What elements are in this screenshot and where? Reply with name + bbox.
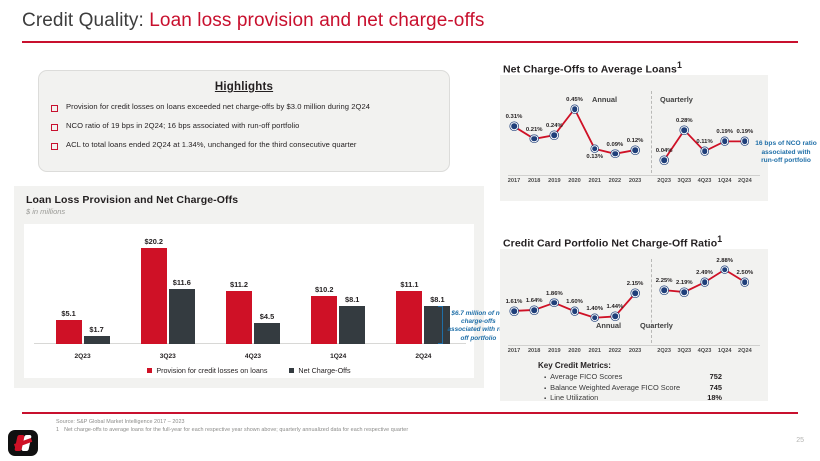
data-label-2020: 0.45% — [558, 97, 592, 103]
legend-swatch-icon — [289, 368, 294, 373]
bar-value-label: $10.2 — [298, 285, 350, 294]
data-label-1Q24: 2.88% — [708, 258, 742, 264]
footer-divider — [22, 412, 798, 414]
data-label-2019: 0.24% — [537, 123, 571, 129]
page-title-accent: Loan loss provision and net charge-offs — [149, 10, 484, 31]
data-label-3Q23: 0.28% — [667, 118, 701, 124]
bar-value-label: $11.6 — [156, 278, 208, 287]
metric-value: 745 — [710, 383, 738, 392]
highlights-heading: Highlights — [39, 81, 449, 93]
legend-label: Provision for credit losses on loans — [156, 366, 267, 375]
bar-value-label: $5.1 — [43, 309, 95, 318]
annual-quarterly-divider — [651, 91, 652, 173]
metric-label: Average FICO Scores — [550, 372, 622, 381]
nco-chart-title: Net Charge-Offs to Average Loans1 — [503, 60, 682, 76]
page-number: 25 — [796, 437, 804, 444]
x-tick-2Q24: 2Q24 — [733, 348, 757, 354]
source-notes: Source: S&P Global Market Intelligence 2… — [56, 418, 408, 434]
bar-3Q23-provision — [141, 248, 167, 344]
bar-category-label: 1Q24 — [298, 353, 378, 360]
legend-item-nco: Net Charge-Offs — [289, 366, 350, 375]
data-point-4Q23 — [701, 148, 709, 156]
metric-label: Line Utilization — [550, 393, 598, 402]
bar-chart-subtitle: $ in millions — [26, 207, 238, 216]
list-item: Provision for credit losses on loans exc… — [51, 102, 449, 112]
data-point-3Q23 — [681, 288, 689, 296]
x-axis-rule — [508, 345, 760, 346]
highlight-text: Provision for credit losses on loans exc… — [66, 102, 370, 111]
run-off-brace — [438, 306, 443, 344]
data-point-2023 — [631, 290, 639, 298]
bar-value-label: $11.1 — [383, 280, 435, 289]
ccp-chart-panel: 1.61%1.64%1.86%1.60%1.40%1.44%2.15%2.25%… — [500, 249, 768, 401]
data-label-2023: 0.12% — [618, 138, 652, 144]
data-point-2018 — [530, 135, 538, 143]
loan-loss-provision-panel: Loan Loss Provision and Net Charge-Offs … — [14, 186, 484, 388]
bullet-icon: ▪ — [544, 396, 546, 402]
footnote-marker: 1 — [56, 426, 59, 434]
data-label-2Q24: 2.50% — [728, 270, 762, 276]
bar-1Q24-nco — [339, 306, 365, 344]
data-point-2022 — [611, 313, 619, 321]
bar-value-label: $4.5 — [241, 312, 293, 321]
data-label-2017: 0.31% — [497, 114, 531, 120]
data-point-2017 — [510, 307, 518, 315]
bar-3Q23-nco — [169, 289, 195, 344]
page-title-static: Credit Quality: — [22, 10, 149, 31]
bar-value-label: $11.2 — [213, 280, 265, 289]
metric-row: ▪ Balance Weighted Average FICO Score 74… — [538, 383, 738, 392]
ccp-chart-title: Credit Card Portfolio Net Charge-Off Rat… — [503, 234, 722, 250]
nco-chart-title-text: Net Charge-Offs to Average Loans — [503, 64, 677, 76]
data-point-2Q23 — [660, 156, 668, 164]
data-point-2022 — [611, 150, 619, 158]
legend-swatch-icon — [147, 368, 152, 373]
title-divider — [22, 41, 798, 43]
data-label-2022: 1.44% — [598, 304, 632, 310]
bar-chart-title: Loan Loss Provision and Net Charge-Offs — [26, 194, 238, 206]
bar-category-label: 4Q23 — [213, 353, 293, 360]
x-tick-2023: 2023 — [623, 348, 647, 354]
data-point-3Q23 — [681, 126, 689, 134]
nco-title-footnote-marker: 1 — [677, 60, 682, 70]
highlights-box: Highlights Provision for credit losses o… — [38, 70, 450, 172]
metric-label: Balance Weighted Average FICO Score — [550, 383, 680, 392]
data-point-1Q24 — [721, 138, 729, 146]
data-label-4Q23: 0.11% — [688, 139, 722, 145]
bar-2Q23-nco — [84, 336, 110, 344]
key-metrics-heading: Key Credit Metrics: — [538, 361, 738, 370]
bullet-icon: ▪ — [544, 386, 546, 392]
data-point-2Q24 — [741, 138, 749, 146]
annual-quarterly-divider — [651, 259, 652, 343]
list-item: ACL to total loans ended 2Q24 at 1.34%, … — [51, 140, 449, 150]
nco-chart-panel: 0.31%0.21%0.24%0.45%0.13%0.09%0.12%0.04%… — [500, 75, 768, 201]
bar-value-label: $8.1 — [326, 295, 378, 304]
bar-chart-legend: Provision for credit losses on loans Net… — [24, 366, 474, 375]
bar-category-label: 2Q24 — [383, 353, 463, 360]
x-tick-2023: 2023 — [623, 178, 647, 184]
bar-value-label: $8.1 — [411, 295, 463, 304]
data-point-2Q23 — [660, 286, 668, 294]
bar-chart-canvas: $5.1$1.72Q23$20.2$11.63Q23$11.2$4.54Q23$… — [24, 224, 474, 378]
footnote-line: 1 Net charge-offs to average loans for t… — [56, 426, 408, 434]
square-bullet-icon — [51, 124, 58, 131]
ccp-title-footnote-marker: 1 — [717, 234, 722, 244]
bar-value-label: $1.7 — [71, 325, 123, 334]
highlights-list: Provision for credit losses on loans exc… — [39, 102, 449, 150]
bar-value-label: $20.2 — [128, 237, 180, 246]
key-credit-metrics: Key Credit Metrics: ▪ Average FICO Score… — [538, 361, 738, 402]
bullet-icon: ▪ — [544, 375, 546, 381]
square-bullet-icon — [51, 143, 58, 150]
bar-chart-header: Loan Loss Provision and Net Charge-Offs … — [26, 194, 238, 216]
metric-value: 752 — [710, 372, 738, 381]
nco-run-off-annotation: 16 bps of NCO ratio associated with run-… — [755, 140, 817, 166]
ccp-chart-title-text: Credit Card Portfolio Net Charge-Off Rat… — [503, 238, 717, 250]
segment-label-quarterly: Quarterly — [640, 321, 673, 330]
footnote-text: Net charge-offs to average loans for the… — [64, 426, 408, 434]
data-label-2019: 1.86% — [537, 291, 571, 297]
segment-label-quarterly: Quarterly — [660, 95, 693, 104]
x-tick-2Q24: 2Q24 — [733, 178, 757, 184]
data-label-2021: 0.13% — [578, 154, 612, 160]
data-label-2Q23: 0.04% — [647, 148, 681, 154]
company-logo-icon — [8, 430, 38, 456]
page-title: Credit Quality: Loan loss provision and … — [22, 10, 484, 32]
data-point-2019 — [551, 131, 559, 139]
bar-4Q23-nco — [254, 323, 280, 344]
data-label-3Q23: 2.19% — [667, 280, 701, 286]
nco-chart-canvas: 0.31%0.21%0.24%0.45%0.13%0.09%0.12%0.04%… — [500, 75, 768, 201]
data-label-2018: 1.64% — [517, 298, 551, 304]
metric-row: ▪ Average FICO Scores 752 — [538, 372, 738, 381]
metric-value: 18% — [707, 393, 738, 402]
data-label-2020: 1.60% — [558, 299, 592, 305]
segment-label-annual: Annual — [592, 95, 617, 104]
square-bullet-icon — [51, 105, 58, 112]
metric-row: ▪ Line Utilization 18% — [538, 393, 738, 402]
segment-label-annual: Annual — [596, 321, 621, 330]
data-point-2020 — [571, 105, 579, 113]
legend-label: Net Charge-Offs — [298, 366, 350, 375]
data-point-2018 — [530, 306, 538, 314]
bar-category-label: 2Q23 — [43, 353, 123, 360]
slide-root: Credit Quality: Loan loss provision and … — [0, 0, 820, 461]
highlight-text: ACL to total loans ended 2Q24 at 1.34%, … — [66, 140, 357, 149]
highlight-text: NCO ratio of 19 bps in 2Q24; 16 bps asso… — [66, 121, 299, 130]
bar-category-label: 3Q23 — [128, 353, 208, 360]
data-label-2Q24: 0.19% — [728, 129, 762, 135]
legend-item-provision: Provision for credit losses on loans — [147, 366, 267, 375]
data-point-2Q24 — [741, 278, 749, 286]
data-point-4Q23 — [701, 279, 709, 287]
list-item: NCO ratio of 19 bps in 2Q24; 16 bps asso… — [51, 121, 449, 131]
bar-chart-plot: $5.1$1.72Q23$20.2$11.63Q23$11.2$4.54Q23$… — [24, 224, 474, 378]
x-axis-rule — [508, 175, 760, 176]
data-label-4Q23: 2.49% — [688, 270, 722, 276]
data-point-2023 — [631, 146, 639, 154]
source-line: Source: S&P Global Market Intelligence 2… — [56, 418, 408, 426]
